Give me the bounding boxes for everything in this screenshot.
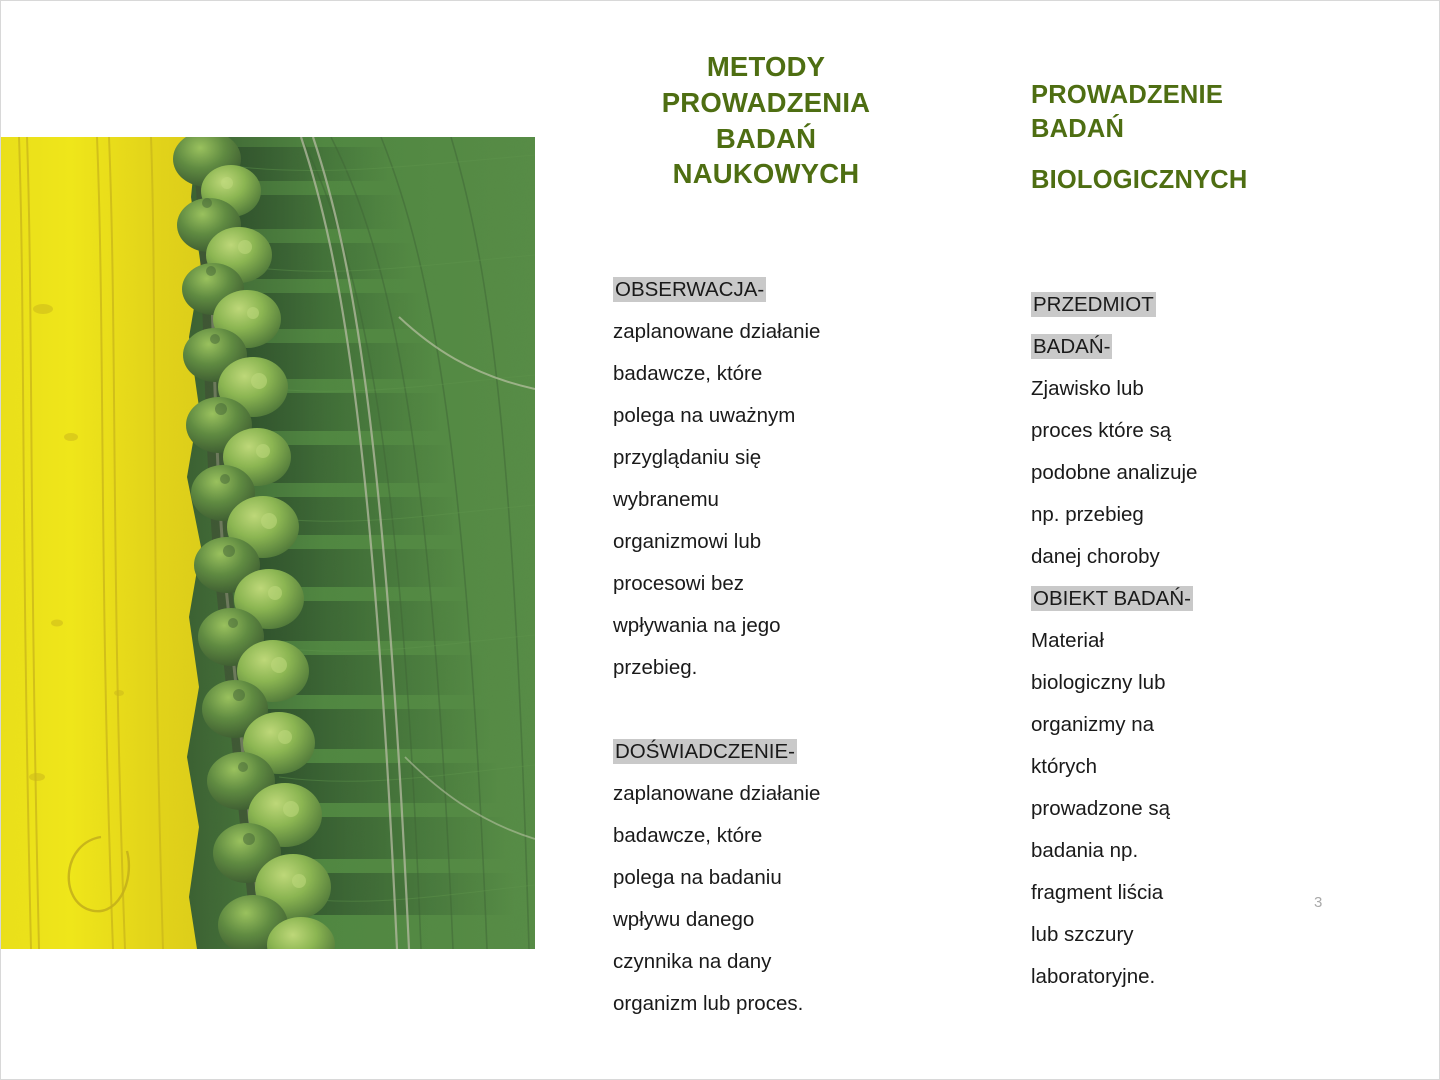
definition-obiekt-badan: OBIEKT BADAŃ- Materiał biologiczny lub o…: [1031, 578, 1341, 998]
heading-line: METODY: [601, 49, 931, 85]
body-line: laboratoryjne.: [1031, 956, 1341, 998]
term-badan: BADAŃ-: [1031, 334, 1112, 359]
definition-przedmiot-badan: PRZEDMIOT BADAŃ- Zjawisko lub proces któ…: [1031, 284, 1341, 578]
body-line: proces które są: [1031, 410, 1341, 452]
body-line: zaplanowane działanie: [613, 311, 943, 353]
term-obiekt-badan: OBIEKT BADAŃ-: [1031, 586, 1193, 611]
column2-heading: METODY PROWADZENIA BADAŃ NAUKOWYCH: [601, 49, 931, 192]
body-line: Zjawisko lub: [1031, 368, 1341, 410]
body-line: wpływania na jego: [613, 605, 943, 647]
definition-obserwacja: OBSERWACJA- zaplanowane działanie badawc…: [613, 269, 943, 689]
term-highlight: BADAŃ-: [1031, 326, 1341, 368]
page-number: 3: [1314, 894, 1322, 911]
term-highlight: OBSERWACJA-: [613, 269, 943, 311]
body-line: fragment liścia: [1031, 872, 1341, 914]
column3-heading: PROWADZENIE BADAŃ BIOLOGICZNYCH: [1031, 79, 1331, 198]
term-przedmiot: PRZEDMIOT: [1031, 292, 1156, 317]
body-line: danej choroby: [1031, 536, 1341, 578]
definition-doswiadczenie: DOŚWIADCZENIE- zaplanowane działanie bad…: [613, 731, 943, 1025]
body-line: organizm lub proces.: [613, 983, 943, 1025]
body-line: których: [1031, 746, 1341, 788]
heading-biological-research: PROWADZENIE BADAŃ BIOLOGICZNYCH: [1031, 79, 1331, 198]
aerial-photo-illustration: [1, 137, 535, 949]
column2-body: OBSERWACJA- zaplanowane działanie badawc…: [613, 269, 943, 1025]
body-line: czynnika na dany: [613, 941, 943, 983]
heading-line: BADAŃ: [601, 121, 931, 157]
body-line: badawcze, które: [613, 815, 943, 857]
body-line: badania np.: [1031, 830, 1341, 872]
body-line: podobne analizuje: [1031, 452, 1341, 494]
term-obserwacja: OBSERWACJA-: [613, 277, 766, 302]
body-line: polega na badaniu: [613, 857, 943, 899]
slide: METODY PROWADZENIA BADAŃ NAUKOWYCH OBSER…: [0, 0, 1440, 1080]
body-line: organizmy na: [1031, 704, 1341, 746]
body-line: prowadzone są: [1031, 788, 1341, 830]
body-line: wybranemu: [613, 479, 943, 521]
term-highlight: DOŚWIADCZENIE-: [613, 731, 943, 773]
column3-body: PRZEDMIOT BADAŃ- Zjawisko lub proces któ…: [1031, 284, 1341, 998]
body-line: biologiczny lub: [1031, 662, 1341, 704]
body-line: np. przebieg: [1031, 494, 1341, 536]
body-line: Materiał: [1031, 620, 1341, 662]
body-line: zaplanowane działanie: [613, 773, 943, 815]
body-line: badawcze, które: [613, 353, 943, 395]
body-line: lub szczury: [1031, 914, 1341, 956]
heading-line: BIOLOGICZNYCH: [1031, 164, 1331, 198]
term-highlight: PRZEDMIOT: [1031, 284, 1341, 326]
body-line: organizmowi lub: [613, 521, 943, 563]
heading-line: PROWADZENIE: [1031, 79, 1331, 113]
body-line: procesowi bez: [613, 563, 943, 605]
term-highlight: OBIEKT BADAŃ-: [1031, 578, 1341, 620]
heading-methods: METODY PROWADZENIA BADAŃ NAUKOWYCH: [601, 49, 931, 192]
aerial-photo-rapeseed-field-tree-line: [1, 137, 535, 949]
heading-line: BADAŃ: [1031, 113, 1331, 147]
heading-spacer: [1031, 146, 1331, 164]
body-line: przyglądaniu się: [613, 437, 943, 479]
body-line: polega na uważnym: [613, 395, 943, 437]
body-line: wpływu danego: [613, 899, 943, 941]
body-line: przebieg.: [613, 647, 943, 689]
heading-line: NAUKOWYCH: [601, 156, 931, 192]
term-doswiadczenie: DOŚWIADCZENIE-: [613, 739, 797, 764]
heading-line: PROWADZENIA: [601, 85, 931, 121]
